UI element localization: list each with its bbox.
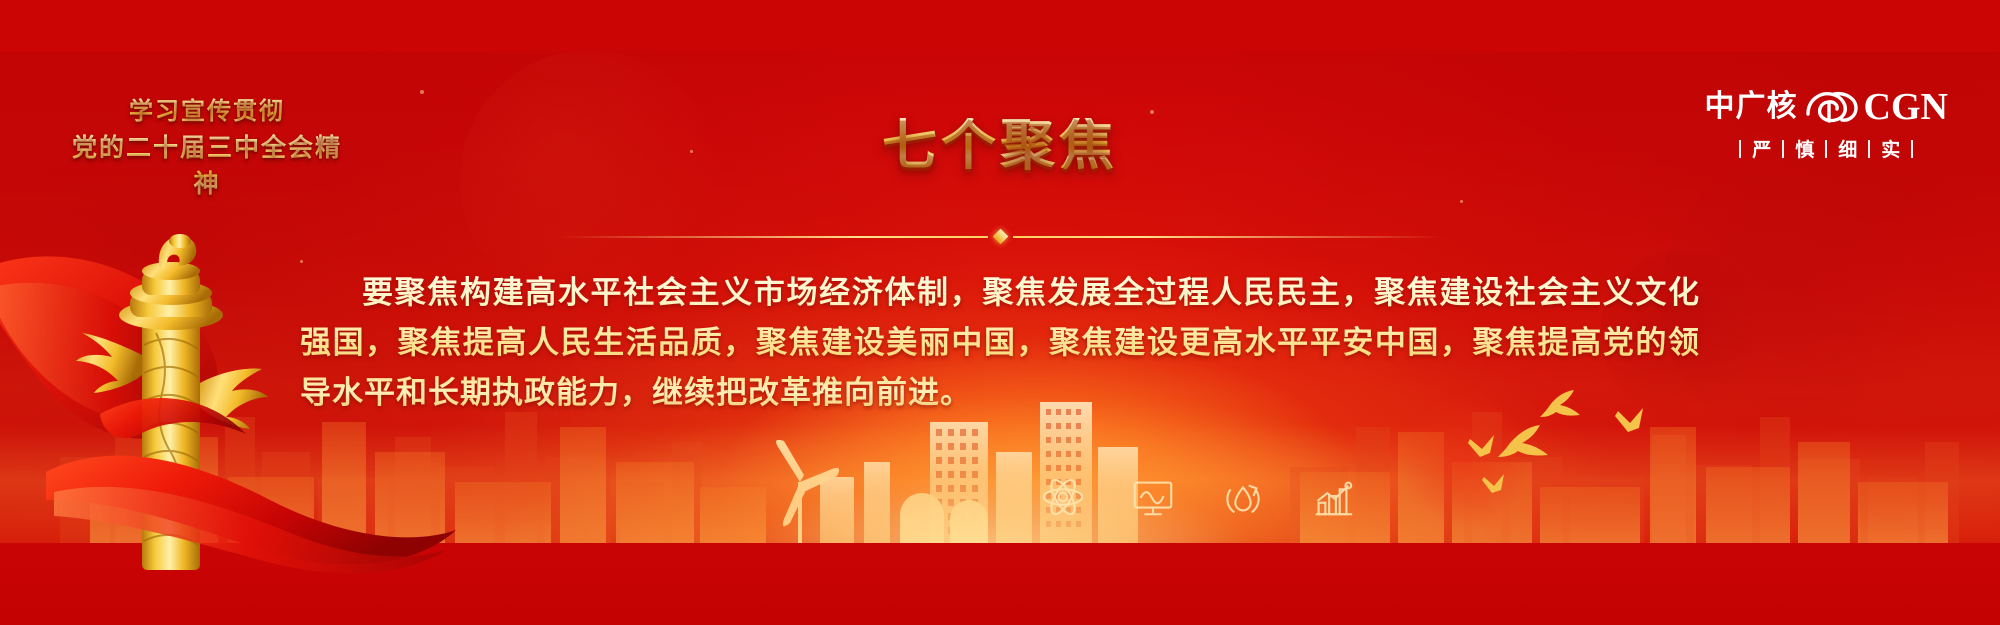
recycle-drop-icon — [1220, 474, 1266, 520]
sparkle — [420, 90, 424, 94]
banner-title: 七个聚焦 — [882, 118, 1118, 173]
monitor-waveform-icon — [1130, 474, 1176, 520]
bar-chart-growth-icon — [1310, 474, 1356, 520]
body-text-wrap: 要聚焦构建高水平社会主义市场经济体制，聚焦发展全过程人民民主，聚焦建设社会主义文… — [300, 237, 1700, 450]
banner-title-wrap: 七个聚焦 — [0, 118, 2000, 173]
sparkle — [1150, 110, 1154, 114]
body-paragraph: 要聚焦构建高水平社会主义市场经济体制，聚焦发展全过程人民民主，聚焦建设社会主义文… — [300, 268, 1700, 419]
propaganda-banner: 学习宣传贯彻 党的二十届三中全会精神 中广核 CGN 严 慎 细 实 七个聚焦 — [0, 0, 2000, 625]
atom-icon — [1040, 474, 1086, 520]
tech-icon-row — [1040, 474, 1356, 520]
sparkle — [1460, 200, 1463, 203]
top-red-band — [0, 0, 2000, 52]
